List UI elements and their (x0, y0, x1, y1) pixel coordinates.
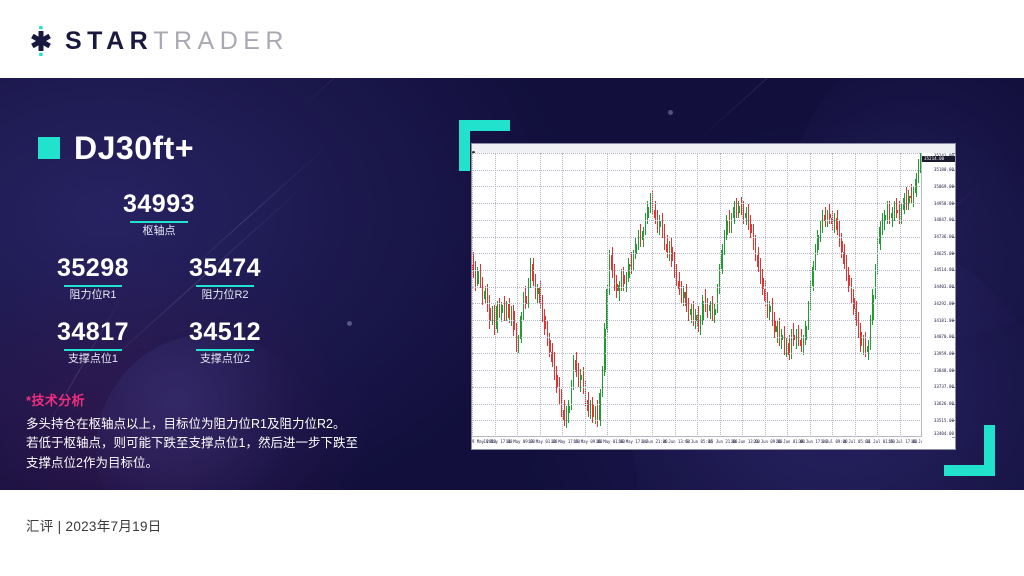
candle (578, 153, 579, 437)
candle (743, 153, 744, 437)
candle (477, 153, 478, 437)
analysis-heading: *技术分析 (26, 390, 392, 409)
candle (712, 153, 713, 437)
candle (884, 153, 885, 437)
price-axis-label: 34514.00 (934, 267, 954, 272)
candle-body (774, 321, 775, 332)
candle-body (573, 360, 574, 386)
candle (626, 153, 627, 437)
candle-body (537, 288, 538, 294)
candle (599, 153, 600, 437)
candle (882, 153, 883, 437)
stat-s1-label: 支撑点位1 (34, 353, 152, 366)
chart-gridline-v (562, 153, 563, 437)
stat-r2: 35474 阻力位R2 (166, 254, 284, 302)
candle-body (623, 275, 624, 284)
candle (753, 153, 754, 437)
candle-body (772, 306, 773, 320)
stat-r1-value: 35298 (34, 254, 152, 282)
price-axis-label: 34736.00 (934, 234, 954, 239)
candle (851, 153, 852, 437)
candle (860, 153, 861, 437)
chart-gridline-v (855, 153, 856, 437)
candle (738, 153, 739, 437)
technical-analysis-block: *技术分析 多头持仓在枢轴点以上，目标位为阻力位R1及阻力位R2。 若低于枢轴点… (26, 390, 392, 473)
chart-gridline-v (787, 153, 788, 437)
price-axis-label: 35069.00 (934, 184, 954, 189)
candle (805, 153, 806, 437)
candle-body (714, 309, 715, 315)
price-axis-label: 34847.00 (934, 217, 954, 222)
candle-body (800, 340, 801, 346)
candle-body (499, 306, 500, 313)
candle (671, 153, 672, 437)
candle-body (568, 406, 569, 413)
candle (796, 153, 797, 437)
stat-s2-label: 支撑点位2 (166, 353, 284, 366)
candle-body (820, 227, 821, 236)
candle-body (855, 309, 856, 320)
candle-body (504, 305, 505, 316)
candle-body (587, 400, 588, 411)
candle (537, 153, 538, 437)
candle (762, 153, 763, 437)
candle (726, 153, 727, 437)
price-axis-label: 34625.00 (934, 251, 954, 256)
candle-body (475, 271, 476, 284)
candle (918, 153, 919, 437)
candle (685, 153, 686, 437)
candle-body (918, 164, 919, 178)
candle-body (750, 224, 751, 233)
chart-gridline-v (675, 153, 676, 437)
chart-gridline-v (472, 153, 473, 437)
candle-body (681, 289, 682, 298)
candle (891, 153, 892, 437)
candle (487, 153, 488, 437)
candle (640, 153, 641, 437)
candle (896, 153, 897, 437)
candle-body (848, 275, 849, 286)
candle-body (542, 304, 543, 317)
candle (774, 153, 775, 437)
candle (714, 153, 715, 437)
candle (489, 153, 490, 437)
chart-gridline-v (652, 153, 653, 437)
candle-wick (619, 281, 620, 301)
candle-body (559, 387, 560, 398)
candle-body (604, 329, 605, 372)
candle-body (870, 321, 871, 347)
chart-gridline-v (585, 153, 586, 437)
candle (630, 153, 631, 437)
candle-body (664, 233, 665, 244)
candle-body (760, 267, 761, 278)
candle (530, 153, 531, 437)
candle (532, 153, 533, 437)
price-axis-label: 35180.00 (934, 167, 954, 172)
price-axis-label: 33959.00 (934, 351, 954, 356)
chart-gridline-v (630, 153, 631, 437)
candle-body (712, 305, 713, 315)
chart-gridline-v (900, 153, 901, 437)
price-axis-label: 34403.00 (934, 284, 954, 289)
candle-body (743, 210, 744, 219)
candle (731, 153, 732, 437)
candle (690, 153, 691, 437)
candle-body (729, 221, 730, 227)
candle-body (803, 340, 804, 346)
candle-body (769, 306, 770, 312)
candle (872, 153, 873, 437)
candle (748, 153, 749, 437)
chart-gridline-v (810, 153, 811, 437)
candle (827, 153, 828, 437)
bg-dot (668, 110, 673, 115)
candle-body (511, 311, 512, 318)
candle-body (626, 278, 627, 284)
slide-canvas: STARTRADER DJ30ft+ (0, 0, 1024, 576)
pivot-levels-grid: 34993 枢轴点 35298 阻力位R1 35474 阻力位R2 (34, 190, 284, 367)
candle-body (693, 309, 694, 320)
chart-gridline-v (877, 153, 878, 437)
candle-body (896, 210, 897, 213)
candle-body (748, 213, 749, 224)
analysis-line-3: 支撑点位2作为目标位。 (26, 454, 392, 473)
candle (496, 153, 497, 437)
candle-body (863, 340, 864, 346)
candle-body (530, 264, 531, 282)
candle (528, 153, 529, 437)
stat-divider (130, 221, 188, 223)
candle (621, 153, 622, 437)
candle-body (480, 271, 481, 284)
candle (769, 153, 770, 437)
candle-body (566, 413, 567, 420)
candle (760, 153, 761, 437)
candle (733, 153, 734, 437)
candle-body (614, 271, 615, 284)
candle (647, 153, 648, 437)
candle (815, 153, 816, 437)
price-axis-label: 34958.00 (934, 201, 954, 206)
candle-body (563, 410, 564, 420)
candle (678, 153, 679, 437)
candle (475, 153, 476, 437)
candle (817, 153, 818, 437)
candle (721, 153, 722, 437)
candle-body (882, 221, 883, 227)
price-axis[interactable]: 35241.0035180.0035069.0034958.0034847.00… (921, 153, 955, 437)
candle (492, 153, 493, 437)
candle-body (903, 198, 904, 209)
candle (736, 153, 737, 437)
candle-body (590, 404, 591, 411)
candle (566, 153, 567, 437)
stat-r1: 35298 阻力位R1 (34, 254, 152, 302)
candle (645, 153, 646, 437)
price-axis-label: 34181.00 (934, 318, 954, 323)
chart-plot-area[interactable] (472, 153, 922, 437)
candle (855, 153, 856, 437)
candle (666, 153, 667, 437)
candle (549, 153, 550, 437)
candle (573, 153, 574, 437)
candle (609, 153, 610, 437)
candle-body (484, 291, 485, 300)
candle-body (477, 271, 478, 284)
chart-gridline-v (832, 153, 833, 437)
candle-body (532, 264, 533, 281)
candle-body (508, 304, 509, 318)
candle (635, 153, 636, 437)
candle-body (595, 410, 596, 417)
pivot-row: 34993 枢轴点 (34, 190, 284, 238)
chart-gridline-v (742, 153, 743, 437)
candle (662, 153, 663, 437)
candle (590, 153, 591, 437)
candle-body (528, 282, 529, 303)
candle-body (829, 214, 830, 218)
chart-gridline-v (517, 153, 518, 437)
current-price-tag: 35214.00 (922, 156, 955, 162)
candle-body (506, 304, 507, 317)
candle (523, 153, 524, 437)
candle-wick (777, 321, 778, 344)
candle-body (839, 230, 840, 241)
candle (676, 153, 677, 437)
price-axis-label: 34070.00 (934, 334, 954, 339)
candle-body (556, 375, 557, 388)
candle-body (894, 210, 895, 213)
candle (602, 153, 603, 437)
candle-body (554, 362, 555, 375)
chart-gridline-v (697, 153, 698, 437)
candle (757, 153, 758, 437)
candle-body (633, 254, 634, 267)
candle (568, 153, 569, 437)
candle (906, 153, 907, 437)
footer-caption: 汇评 | 2023年7月19日 (26, 515, 162, 535)
candle (875, 153, 876, 437)
candle-body (662, 221, 663, 232)
candle-body (865, 340, 866, 351)
candle-body (501, 305, 502, 314)
stat-s2: 34512 支撑点位2 (166, 318, 284, 366)
candle (604, 153, 605, 437)
chart-gridline-v (495, 153, 496, 437)
candle-body (891, 213, 892, 219)
candle (506, 153, 507, 437)
time-axis[interactable]: 9 May 202310 May 17:0011 May 09:0012 May… (472, 436, 922, 449)
candle-body (683, 292, 684, 298)
candle (901, 153, 902, 437)
candle (592, 153, 593, 437)
candle (709, 153, 710, 437)
stat-s1-value: 34817 (34, 318, 152, 346)
candle (659, 153, 660, 437)
candle-body (523, 296, 524, 316)
candle (508, 153, 509, 437)
candle-body (690, 309, 691, 315)
candle-body (666, 244, 667, 253)
candle-body (549, 340, 550, 351)
candle (772, 153, 773, 437)
price-axis-label: 33626.00 (934, 401, 954, 406)
candle (755, 153, 756, 437)
candle-body (611, 255, 612, 271)
candle (781, 153, 782, 437)
candle (824, 153, 825, 437)
chart-gridline-v (720, 153, 721, 437)
candle-body (860, 332, 861, 346)
instrument-title: DJ30ft+ (38, 132, 194, 164)
support-row: 34817 支撑点位1 34512 支撑点位2 (34, 318, 284, 366)
candle-body (676, 272, 677, 281)
candle (480, 153, 481, 437)
candle-body (518, 339, 519, 348)
candle (518, 153, 519, 437)
footer-bar: 汇评 | 2023年7月19日 (0, 490, 1024, 576)
candle (776, 153, 777, 437)
candle-body (841, 241, 842, 252)
candle-body (913, 193, 914, 199)
candle (520, 153, 521, 437)
candle (575, 153, 576, 437)
candle-body (492, 311, 493, 321)
candle (724, 153, 725, 437)
candle-body (805, 326, 806, 340)
candle-body (879, 227, 880, 244)
stat-r1-label: 阻力位R1 (34, 289, 152, 302)
candle (559, 153, 560, 437)
candle (683, 153, 684, 437)
stat-divider (196, 285, 254, 287)
candle (681, 153, 682, 437)
candle (908, 153, 909, 437)
candle-body (738, 206, 739, 213)
chart-window[interactable]: DJ30ft+,H4 35.00 35.55 35.56 35.45.00 35… (471, 143, 956, 450)
candle (705, 153, 706, 437)
candle-body (707, 306, 708, 310)
candle (879, 153, 880, 437)
stat-divider (64, 285, 122, 287)
candle (767, 153, 768, 437)
candle (784, 153, 785, 437)
candle (750, 153, 751, 437)
brand-wordmark: STARTRADER (65, 29, 289, 54)
candle-body (592, 404, 593, 417)
candle (654, 153, 655, 437)
candle (614, 153, 615, 437)
candle-body (889, 210, 890, 219)
candle (657, 153, 658, 437)
analysis-line-2: 若低于枢轴点，则可能下跌至支撑点位1，然后进一步下跌至 (26, 434, 392, 453)
stat-r2-value: 35474 (166, 254, 284, 282)
candle (870, 153, 871, 437)
candle (848, 153, 849, 437)
brand-name-bold: STAR (65, 27, 153, 55)
candle-body (736, 207, 737, 213)
candle (499, 153, 500, 437)
candle-body (875, 269, 876, 295)
candle-body (578, 372, 579, 381)
candle-body (910, 196, 911, 199)
candle-body (602, 372, 603, 393)
stat-r2-label: 阻力位R2 (166, 289, 284, 302)
chart-gridline-v (765, 153, 766, 437)
candle-body (709, 305, 710, 311)
candle-body (887, 210, 888, 216)
candle (511, 153, 512, 437)
candle (551, 153, 552, 437)
square-bullet-icon (38, 137, 60, 159)
candle (779, 153, 780, 437)
candle-body (858, 321, 859, 332)
candle (650, 153, 651, 437)
candle (484, 153, 485, 437)
candle (915, 153, 916, 437)
candle (688, 153, 689, 437)
candle (887, 153, 888, 437)
price-axis-label: 33737.00 (934, 384, 954, 389)
candle (513, 153, 514, 437)
candle (571, 153, 572, 437)
price-axis-label: 33515.00 (934, 418, 954, 423)
candle-body (688, 306, 689, 315)
candle (793, 153, 794, 437)
candle (554, 153, 555, 437)
brand-name-light: TRADER (153, 27, 289, 55)
candle-body (678, 281, 679, 290)
candle (843, 153, 844, 437)
candle-body (496, 306, 497, 329)
candle (820, 153, 821, 437)
candle-body (547, 329, 548, 340)
candle-body (647, 207, 648, 218)
candle (664, 153, 665, 437)
candle-body (822, 215, 823, 226)
candle (788, 153, 789, 437)
candle (580, 153, 581, 437)
candle (822, 153, 823, 437)
candle (669, 153, 670, 437)
candle (894, 153, 895, 437)
header-bar: STARTRADER (0, 0, 1024, 78)
resistance-row: 35298 阻力位R1 35474 阻力位R2 (34, 254, 284, 302)
candle-body (642, 231, 643, 240)
candle (563, 153, 564, 437)
candle (910, 153, 911, 437)
price-axis-tick (952, 437, 955, 438)
candle-body (700, 321, 701, 327)
candle (501, 153, 502, 437)
candle (717, 153, 718, 437)
candle-body (544, 316, 545, 329)
candle (858, 153, 859, 437)
candle (913, 153, 914, 437)
candle (863, 153, 864, 437)
candle (623, 153, 624, 437)
candle-body (489, 308, 490, 321)
candle (903, 153, 904, 437)
asterisk-star-icon (26, 26, 56, 56)
bg-dot (347, 321, 352, 326)
candle-body (669, 247, 670, 253)
candle (791, 153, 792, 437)
candle (642, 153, 643, 437)
stat-s2-value: 34512 (166, 318, 284, 346)
